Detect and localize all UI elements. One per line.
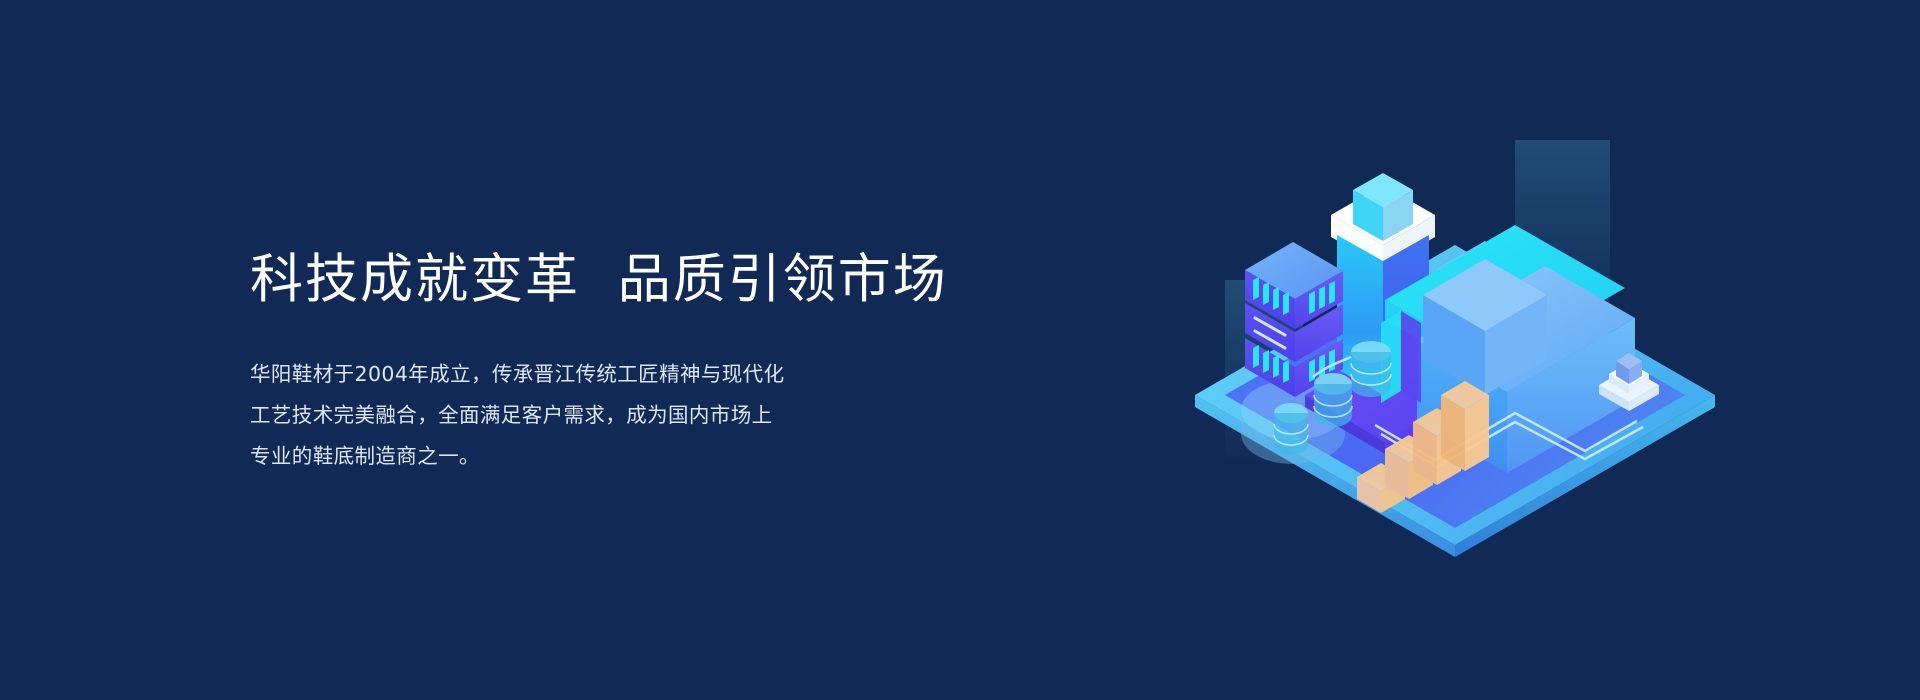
hero-text-block: 科技成就变革 品质引领市场 华阳鞋材于2004年成立，传承晋江传统工匠精神与现代… <box>250 248 1070 477</box>
isometric-smart-factory-illustration <box>1185 95 1725 575</box>
description-line-2: 工艺技术完美融合，全面满足客户需求，成为国内市场上 <box>250 395 1070 436</box>
hero-description: 华阳鞋材于2004年成立，传承晋江传统工匠精神与现代化 工艺技术完美融合，全面满… <box>250 354 1070 477</box>
page-title: 科技成就变革 品质引领市场 <box>250 248 1070 312</box>
coin-stack-b <box>1314 373 1352 427</box>
hero-banner: 科技成就变革 品质引领市场 华阳鞋材于2004年成立，传承晋江传统工匠精神与现代… <box>0 0 1920 700</box>
description-line-1: 华阳鞋材于2004年成立，传承晋江传统工匠精神与现代化 <box>250 354 1070 395</box>
coin-stack-a <box>1351 341 1391 397</box>
description-line-3: 专业的鞋底制造商之一。 <box>250 436 1070 477</box>
beaker <box>1274 403 1308 455</box>
